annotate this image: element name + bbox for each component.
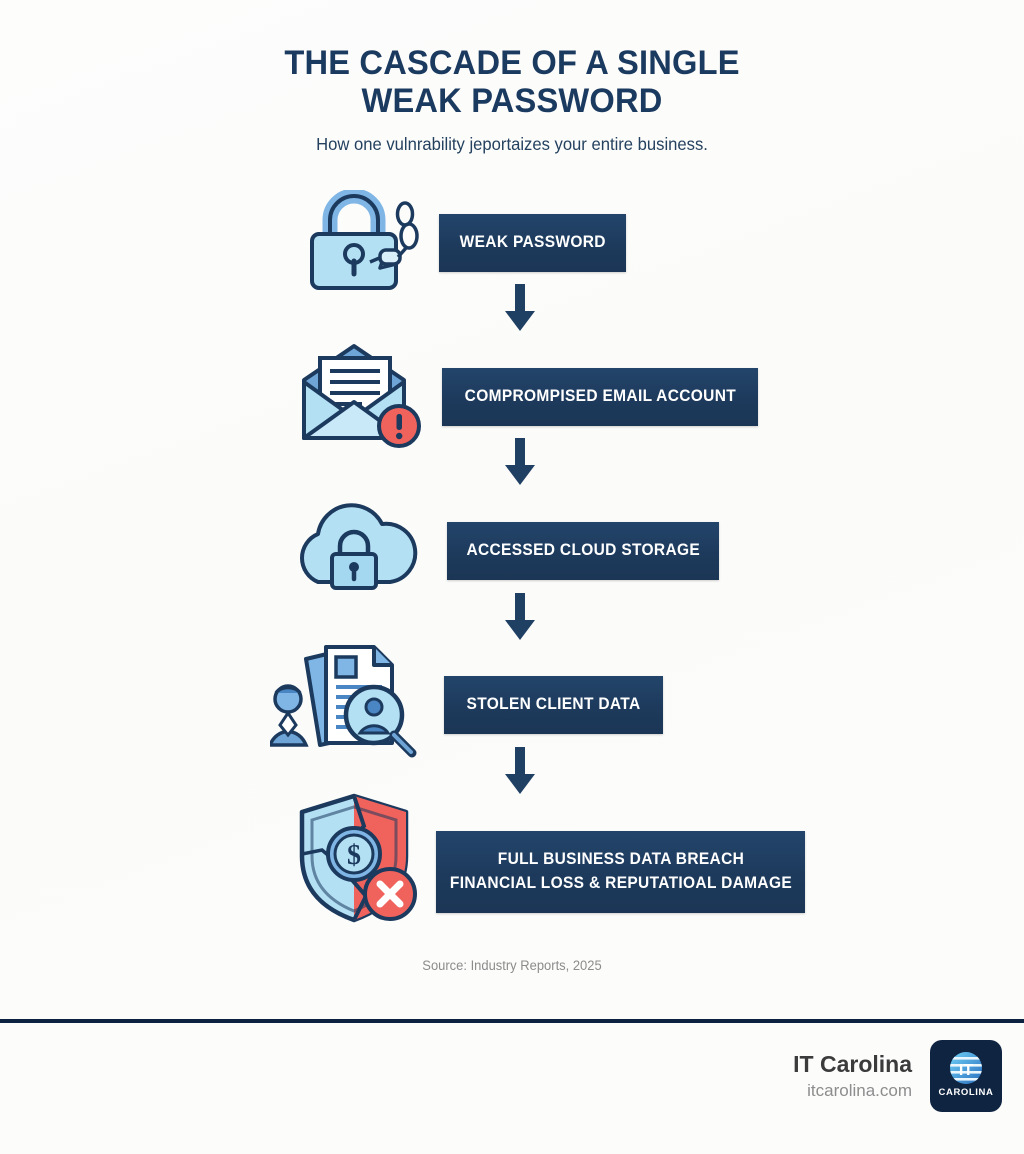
brand-logo: IT CAROLINA [930, 1040, 1002, 1112]
down-arrow-icon [503, 747, 537, 800]
source-note: Source: Industry Reports, 2025 [20, 958, 1003, 973]
it-carolina-logo-icon: IT CAROLINA [937, 1047, 995, 1105]
title-line-1: THE CASCADE OF A SINGLE [284, 44, 739, 82]
broken-shield-dollar-icon: $ [288, 792, 422, 924]
logo-wordmark: CAROLINA [939, 1087, 994, 1098]
step-label: FULL BUSINESS DATA BREACH FINANCIAL LOSS… [449, 848, 791, 896]
cloud-lock-icon [290, 502, 424, 598]
step-box-weak-password[interactable]: WEAK PASSWORD [439, 214, 626, 272]
step-label: COMPROMPISED EMAIL ACCOUNT [464, 385, 735, 409]
broken-padlock-icon [292, 190, 424, 295]
step-box-full-breach[interactable]: FULL BUSINESS DATA BREACH FINANCIAL LOSS… [436, 831, 805, 913]
down-arrow-icon [503, 438, 537, 491]
step-box-cloud-storage[interactable]: ACCESSED CLOUD STORAGE [447, 522, 719, 580]
footer: IT Carolina itcarolina.com [793, 1040, 1002, 1112]
brand-block: IT Carolina itcarolina.com [793, 1051, 912, 1100]
step-box-stolen-client-data[interactable]: STOLEN CLIENT DATA [444, 676, 663, 734]
svg-text:$: $ [347, 840, 361, 871]
step-label: STOLEN CLIENT DATA [467, 693, 641, 717]
page-title: THE CASCADE OF A SINGLE WEAK PASSWORD [20, 44, 1003, 120]
step-box-compromised-email[interactable]: COMPROMPISED EMAIL ACCOUNT [442, 368, 758, 426]
down-arrow-icon [503, 593, 537, 646]
page-subtitle: How one vulnrability jeportaizes your en… [26, 134, 999, 155]
header: THE CASCADE OF A SINGLE WEAK PASSWORD Ho… [0, 44, 1024, 155]
step-label: ACCESSED CLOUD STORAGE [466, 539, 700, 563]
logo-monogram: IT [959, 1062, 973, 1079]
down-arrow-icon [503, 284, 537, 337]
infographic-page: THE CASCADE OF A SINGLE WEAK PASSWORD Ho… [0, 0, 1024, 1154]
title-line-2: WEAK PASSWORD [20, 82, 1003, 120]
step-label: WEAK PASSWORD [459, 231, 605, 255]
footer-divider [0, 1019, 1024, 1023]
documents-magnifier-icon [270, 643, 422, 759]
envelope-alert-icon [294, 342, 428, 452]
brand-name: IT Carolina [793, 1051, 912, 1078]
brand-url[interactable]: itcarolina.com [793, 1081, 912, 1101]
